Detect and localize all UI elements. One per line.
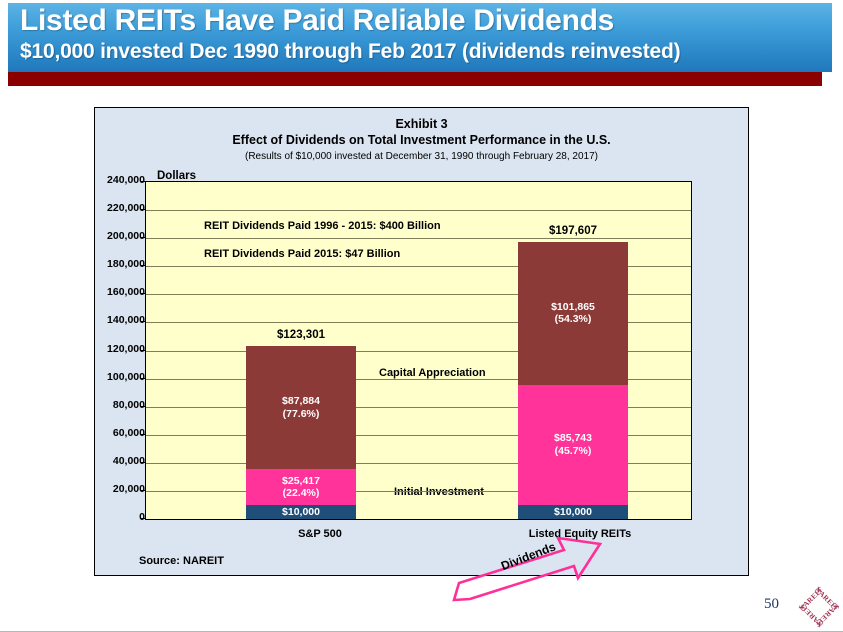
bar-segment-value-label: $101,865 bbox=[551, 301, 595, 314]
x-axis-category-listed-equity-reits: Listed Equity REITs bbox=[505, 528, 655, 540]
annotation-capital-appreciation: Capital Appreciation bbox=[379, 367, 486, 379]
chart-title: Effect of Dividends on Total Investment … bbox=[95, 132, 748, 148]
gridline bbox=[146, 238, 691, 239]
chart-bar[interactable]: $123,301$10,000$25,417(22.4%)$87,884(77.… bbox=[246, 346, 356, 519]
bar-total-label: $197,607 bbox=[498, 225, 648, 237]
page-subtitle: $10,000 invested Dec 1990 through Feb 20… bbox=[20, 40, 680, 64]
chart-subtitle: (Results of $10,000 invested at December… bbox=[95, 149, 748, 164]
chart-panel: Exhibit 3 Effect of Dividends on Total I… bbox=[94, 107, 749, 576]
page-number: 50 bbox=[764, 596, 779, 613]
bar-segment[interactable]: $101,865(54.3%) bbox=[518, 242, 628, 385]
page-title: Listed REITs Have Paid Reliable Dividend… bbox=[20, 4, 614, 38]
bar-segment[interactable]: $25,417(22.4%) bbox=[246, 469, 356, 505]
bar-segment-percent-label: (22.4%) bbox=[283, 487, 320, 500]
bar-segment[interactable]: $10,000 bbox=[518, 505, 628, 519]
bar-segment-percent-label: (54.3%) bbox=[555, 313, 592, 326]
bar-total-label: $123,301 bbox=[226, 329, 376, 341]
chart-exhibit-label: Exhibit 3 bbox=[95, 117, 748, 132]
y-axis-tick-label: 180,000 bbox=[93, 258, 145, 270]
dividends-arrow-icon bbox=[450, 530, 615, 610]
y-axis-tick-label: 140,000 bbox=[93, 314, 145, 326]
svg-text:NAREIT: NAREIT bbox=[798, 586, 825, 613]
y-axis-tick-label: 220,000 bbox=[93, 202, 145, 214]
bar-segment-percent-label: (45.7%) bbox=[555, 445, 592, 458]
y-axis-tick-label: 80,000 bbox=[93, 399, 145, 411]
bar-segment[interactable]: $10,000 bbox=[246, 505, 356, 519]
plot-area: REIT Dividends Paid 1996 - 2015: $400 Bi… bbox=[145, 181, 692, 520]
header-accent-bar bbox=[8, 72, 822, 86]
annotation-reit-dividends-1996-2015: REIT Dividends Paid 1996 - 2015: $400 Bi… bbox=[204, 220, 441, 232]
dividends-arrow-label: Dividends bbox=[499, 539, 558, 573]
chart-title-block: Exhibit 3 Effect of Dividends on Total I… bbox=[95, 117, 748, 164]
bar-segment-value-label: $85,743 bbox=[554, 432, 592, 445]
chart-source-label: Source: NAREIT bbox=[139, 555, 224, 567]
bar-segment-percent-label: (77.6%) bbox=[283, 408, 320, 421]
slide-header-banner: Listed REITs Have Paid Reliable Dividend… bbox=[8, 3, 832, 72]
gridline bbox=[146, 210, 691, 211]
y-axis: 240,000220,000200,000180,000160,000140,0… bbox=[37, 181, 145, 521]
y-axis-tick-label: 160,000 bbox=[93, 286, 145, 298]
y-axis-tick-label: 20,000 bbox=[93, 483, 145, 495]
y-axis-tick-label: 60,000 bbox=[93, 427, 145, 439]
bar-segment-value-label: $10,000 bbox=[282, 506, 320, 519]
bar-segment[interactable]: $85,743(45.7%) bbox=[518, 385, 628, 505]
bar-segment[interactable]: $87,884(77.6%) bbox=[246, 346, 356, 469]
y-axis-tick-label: 0 bbox=[93, 511, 145, 523]
annotation-reit-dividends-2015: REIT Dividends Paid 2015: $47 Billion bbox=[204, 248, 400, 260]
y-axis-tick-label: 200,000 bbox=[93, 230, 145, 242]
y-axis-tick-label: 120,000 bbox=[93, 343, 145, 355]
bar-segment-value-label: $25,417 bbox=[282, 475, 320, 488]
chart-bar[interactable]: $197,607$10,000$85,743(45.7%)$101,865(54… bbox=[518, 242, 628, 519]
x-axis-category-sp500: S&P 500 bbox=[260, 528, 380, 540]
bar-segment-value-label: $10,000 bbox=[554, 506, 592, 519]
y-axis-tick-label: 240,000 bbox=[93, 174, 145, 186]
bar-segment-value-label: $87,884 bbox=[282, 395, 320, 408]
annotation-initial-investment: Initial Investment bbox=[394, 486, 484, 498]
y-axis-tick-label: 100,000 bbox=[93, 371, 145, 383]
y-axis-tick-label: 40,000 bbox=[93, 455, 145, 467]
nareit-logo-icon: NAREIT NAREIT NAREIT NAREIT bbox=[798, 586, 840, 628]
